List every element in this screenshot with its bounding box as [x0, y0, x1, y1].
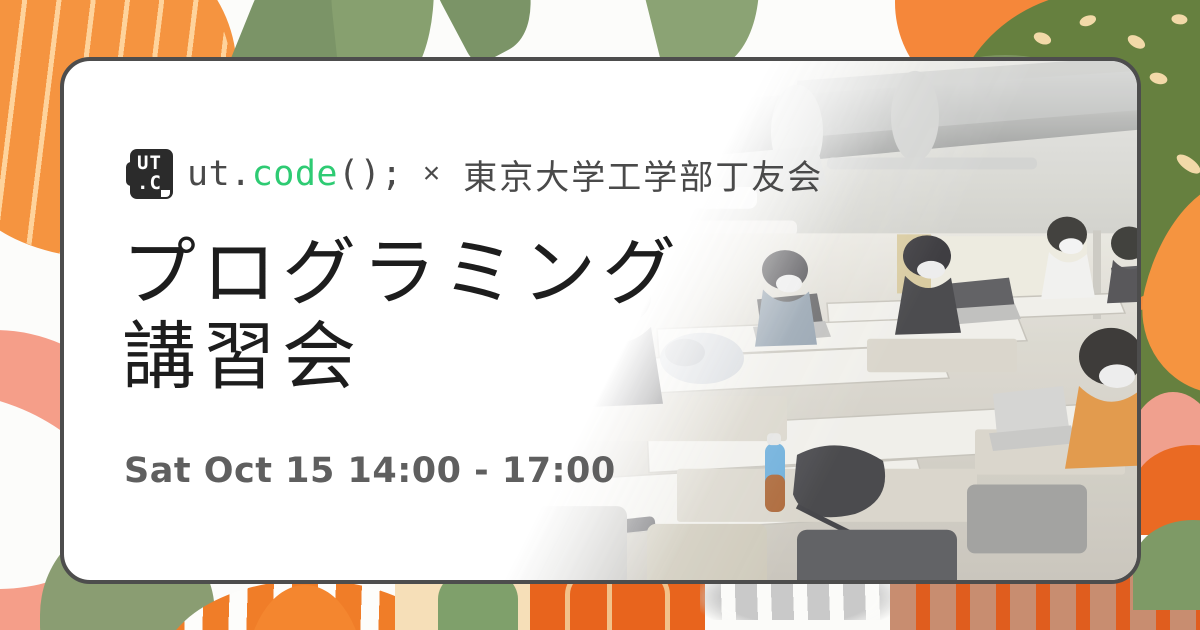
title-line-1: プログラミング	[122, 230, 682, 316]
event-datetime: Sat Oct 15 14:00 - 17:00	[124, 451, 616, 491]
wordmark-suffix: ();	[338, 154, 403, 194]
brand-row: UT .C ut.code(); × 東京大学工学部丁友会	[126, 149, 823, 199]
page-title: プログラミング 講習会	[122, 231, 762, 400]
logo-top-text: UT	[137, 152, 162, 174]
event-card: UT .C ut.code(); × 東京大学工学部丁友会 プログラミング 講習…	[60, 57, 1141, 584]
poster-canvas: UT .C ut.code(); × 東京大学工学部丁友会 プログラミング 講習…	[0, 0, 1200, 630]
wordmark-accent: code	[252, 154, 338, 194]
title-line-2: 講習会	[122, 315, 762, 399]
partner-name: 東京大学工学部丁友会	[463, 150, 823, 199]
card-content: UT .C ut.code(); × 東京大学工学部丁友会 プログラミング 講習…	[64, 61, 1137, 580]
utcode-logo-icon: UT .C	[126, 149, 173, 199]
utcode-wordmark: ut.code();	[187, 154, 403, 194]
wordmark-prefix: ut.	[187, 154, 252, 194]
logo-bottom-text: .C	[137, 172, 162, 194]
cross-symbol-icon: ×	[423, 157, 441, 191]
